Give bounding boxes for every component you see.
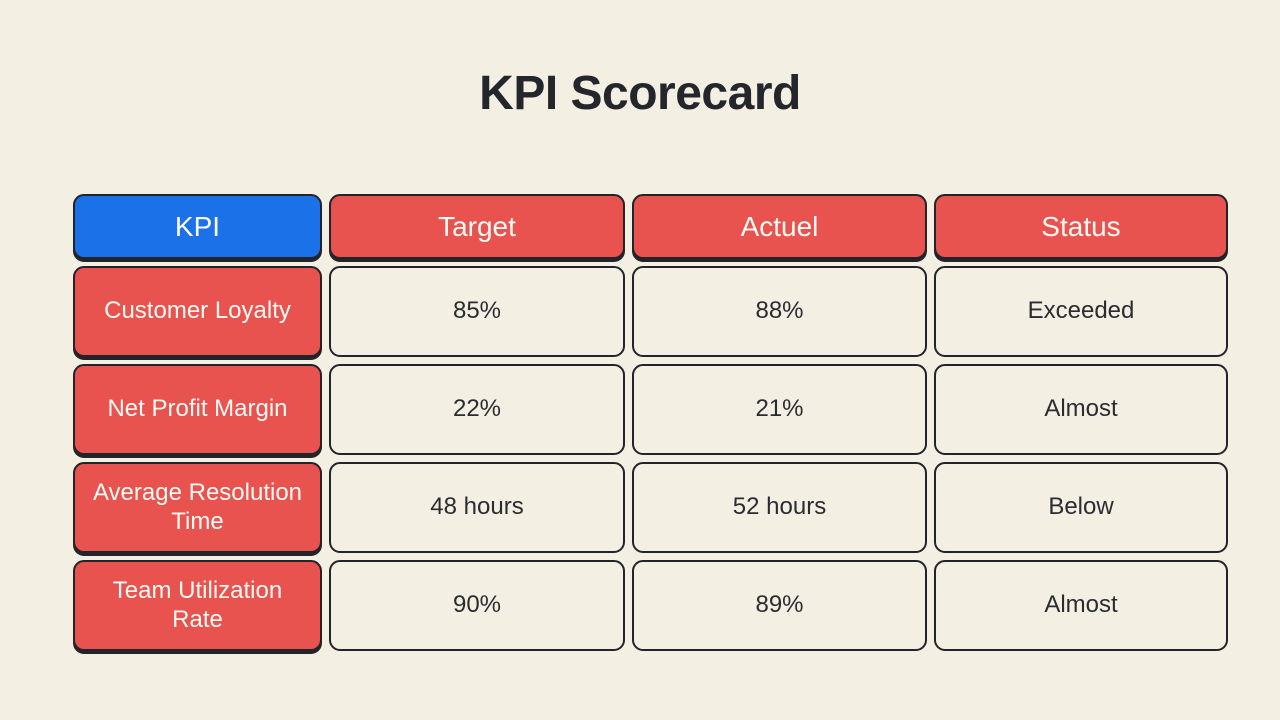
cell-kpi-name[interactable]: Average Resolution Time [73, 462, 322, 553]
cell-actual-text: 88% [755, 297, 803, 325]
cell-target: 90% [329, 560, 625, 651]
cell-target-text: 48 hours [430, 493, 523, 521]
cell-actual: 89% [632, 560, 927, 651]
cell-kpi-name[interactable]: Net Profit Margin [73, 364, 322, 455]
cell-target: 85% [329, 266, 625, 357]
column-header-kpi-label: KPI [175, 210, 220, 243]
column-header-target[interactable]: Target [329, 194, 625, 259]
cell-target-text: 22% [453, 395, 501, 423]
cell-status-text: Exceeded [1028, 297, 1135, 325]
cell-actual-text: 52 hours [733, 493, 826, 521]
cell-actual: 88% [632, 266, 927, 357]
cell-actual: 21% [632, 364, 927, 455]
table-row: Average Resolution Time 48 hours 52 hour… [73, 462, 1207, 553]
table-row: Customer Loyalty 85% 88% Exceeded [73, 266, 1207, 357]
cell-status-text: Below [1048, 493, 1113, 521]
cell-actual-text: 89% [755, 591, 803, 619]
cell-kpi-name[interactable]: Team Utilization Rate [73, 560, 322, 651]
kpi-scorecard-table: KPI Target Actuel Status Customer Loyalt… [73, 194, 1207, 651]
table-row: Net Profit Margin 22% 21% Almost [73, 364, 1207, 455]
cell-target: 22% [329, 364, 625, 455]
cell-kpi-name[interactable]: Customer Loyalty [73, 266, 322, 357]
cell-kpi-name-text: Average Resolution Time [85, 479, 310, 536]
cell-actual-text: 21% [755, 395, 803, 423]
cell-status: Almost [934, 364, 1228, 455]
cell-status: Almost [934, 560, 1228, 651]
cell-target: 48 hours [329, 462, 625, 553]
page-title: KPI Scorecard [0, 66, 1280, 121]
cell-target-text: 85% [453, 297, 501, 325]
column-header-target-label: Target [438, 210, 516, 243]
cell-status: Below [934, 462, 1228, 553]
cell-target-text: 90% [453, 591, 501, 619]
table-header-row: KPI Target Actuel Status [73, 194, 1207, 259]
cell-status-text: Almost [1044, 591, 1117, 619]
cell-status-text: Almost [1044, 395, 1117, 423]
cell-kpi-name-text: Customer Loyalty [104, 297, 291, 325]
table-row: Team Utilization Rate 90% 89% Almost [73, 560, 1207, 651]
cell-kpi-name-text: Net Profit Margin [107, 395, 287, 423]
column-header-status-label: Status [1041, 210, 1120, 243]
slide-canvas: KPI Scorecard KPI Target Actuel Status C… [0, 0, 1280, 720]
column-header-status[interactable]: Status [934, 194, 1228, 259]
column-header-actual[interactable]: Actuel [632, 194, 927, 259]
column-header-actual-label: Actuel [741, 210, 819, 243]
cell-status: Exceeded [934, 266, 1228, 357]
cell-actual: 52 hours [632, 462, 927, 553]
cell-kpi-name-text: Team Utilization Rate [85, 577, 310, 634]
column-header-kpi[interactable]: KPI [73, 194, 322, 259]
